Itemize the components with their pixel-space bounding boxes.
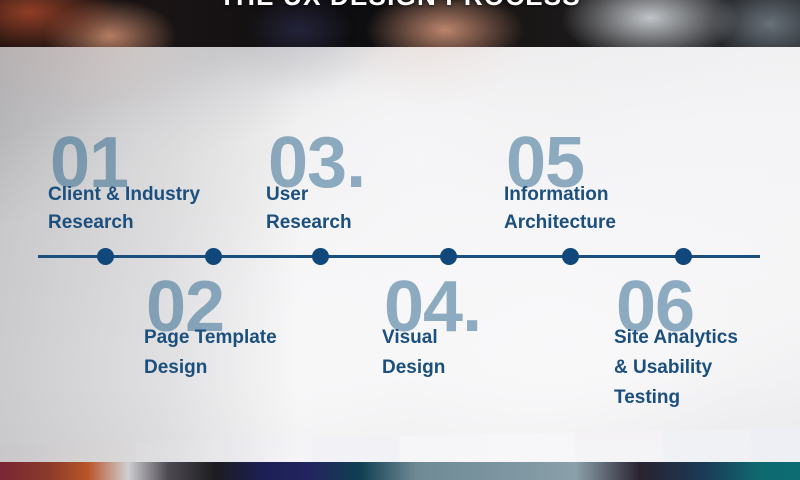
infographic-root: THE UX DESIGN PROCESS 01 Client & Indust…: [0, 0, 800, 480]
step-02-label-line2: Design: [144, 356, 207, 380]
timeline-axis: [38, 255, 760, 258]
step-01-label-line1: Client & Industry: [48, 183, 200, 207]
timeline-dot-04[interactable]: [440, 248, 457, 265]
step-06-label-line2: & Usability: [614, 356, 712, 380]
bottom-photo-strip: [0, 462, 800, 480]
step-04-label-line2: Design: [382, 356, 445, 380]
title-band: THE UX DESIGN PROCESS: [0, 0, 800, 47]
step-03-label-line2: Research: [266, 211, 352, 235]
timeline-dot-01[interactable]: [97, 248, 114, 265]
timeline-dot-06[interactable]: [675, 248, 692, 265]
timeline-dot-05[interactable]: [562, 248, 579, 265]
step-05-label-line2: Architecture: [504, 211, 616, 235]
step-04-label-line1: Visual: [382, 326, 438, 350]
timeline-dot-02[interactable]: [205, 248, 222, 265]
step-06-label-line1: Site Analytics: [614, 326, 738, 350]
timeline-dot-03[interactable]: [312, 248, 329, 265]
step-06-label-line3: Testing: [614, 386, 680, 410]
page-title: THE UX DESIGN PROCESS: [0, 0, 800, 10]
step-03-label-line1: User: [266, 183, 308, 207]
step-02-label-line1: Page Template: [144, 326, 277, 350]
step-05-label-line1: Information: [504, 183, 609, 207]
step-01-label-line2: Research: [48, 211, 134, 235]
